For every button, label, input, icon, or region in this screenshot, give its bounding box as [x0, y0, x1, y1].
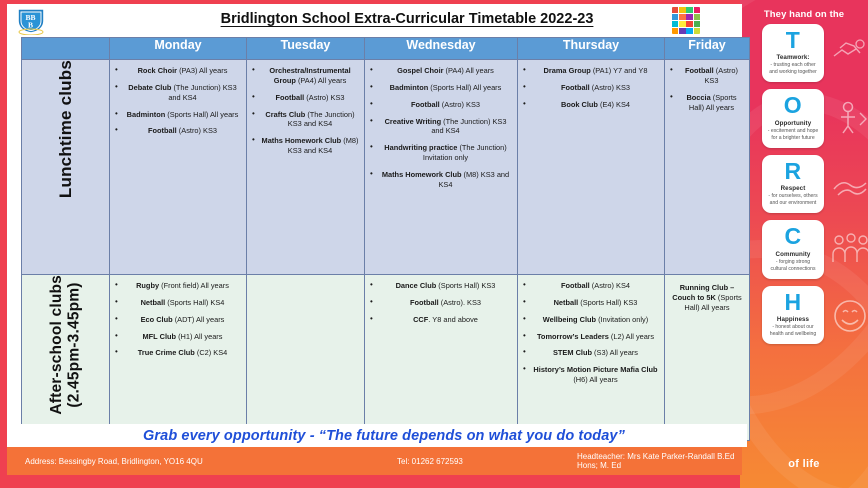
person-arrows-icon: [828, 99, 868, 139]
row-label-text: Lunchtime clubs: [56, 60, 75, 198]
torch-letter: O: [765, 94, 821, 117]
cell-friday-lunchtime: Football (Astro) KS3Boccia (Sports Hall)…: [665, 60, 750, 275]
club-item: Running Club – Couch to 5K (Sports Hall)…: [670, 283, 744, 313]
cell-thursday-lunchtime: Drama Group (PA1) Y7 and Y8Football (Ast…: [518, 60, 665, 275]
club-item: Football (Astro) KS3: [252, 93, 359, 103]
column-header-monday: Monday: [110, 38, 247, 60]
mosaic-tile: [679, 28, 685, 34]
torch-letter: T: [765, 29, 821, 52]
cell-monday-after-school: Rugby (Front field) All yearsNetball (Sp…: [110, 275, 247, 441]
mosaic-tile: [694, 28, 700, 34]
mosaic-tile: [679, 7, 685, 13]
torch-word: Community: [765, 251, 821, 258]
school-motto: Grab every opportunity - “The future dep…: [21, 424, 747, 447]
cell-tuesday-after-school: [247, 275, 365, 441]
club-item: Handwriting practice (The Junction) Invi…: [370, 143, 512, 163]
hands-icon: [828, 165, 868, 205]
club-item: Football (Astro) KS3: [670, 66, 744, 86]
club-item: Badminton (Sports Hall) All years: [370, 83, 512, 93]
page-title: Bridlington School Extra-Curricular Time…: [137, 11, 677, 27]
mosaic-tile: [672, 7, 678, 13]
torch-value-opportunity: OOpportunity- excitement and hope for a …: [762, 89, 824, 147]
club-list: Dance Club (Sports Hall) KS3Football (As…: [365, 275, 517, 336]
mosaic-tile: [672, 28, 678, 34]
club-list: Running Club – Couch to 5K (Sports Hall)…: [665, 275, 749, 324]
table-row: Lunchtime clubsRock Choir (PA3) All year…: [22, 60, 750, 275]
torch-letter: R: [765, 160, 821, 183]
cell-thursday-after-school: Football (Astro) KS4Netball (Sports Hall…: [518, 275, 665, 441]
footer-address: Address: Bessingby Road, Bridlington, YO…: [25, 457, 203, 466]
row-label-text: After-school clubs(2.45pm-3.45pm): [48, 275, 83, 415]
svg-text:B: B: [28, 21, 33, 30]
club-item: Football (Astro). KS3: [370, 298, 512, 308]
mosaic-tile: [686, 14, 692, 20]
club-item: Book Club (E4) KS4: [523, 100, 659, 110]
torch-value-teamwork: TTeamwork:- trusting each other and work…: [762, 24, 824, 82]
torch-value-happiness: HHappiness- honest about our health and …: [762, 286, 824, 344]
club-item: Orchestra/Instrumental Group (PA4) All y…: [252, 66, 359, 86]
club-item: Tomorrow’s Leaders (L2) All years: [523, 332, 659, 342]
column-header-friday: Friday: [665, 38, 750, 60]
school-crest-icon: BB B: [13, 7, 49, 35]
club-item: Badminton (Sports Hall) All years: [115, 110, 241, 120]
club-item: Football (Astro) KS3: [115, 126, 241, 136]
torch-description: - for ourselves, others and our environm…: [765, 193, 821, 207]
mosaic-tile: [694, 14, 700, 20]
footer-bar: Address: Bessingby Road, Bridlington, YO…: [7, 447, 742, 475]
club-item: Creative Writing (The Junction) KS3 and …: [370, 117, 512, 137]
timetable: Monday Tuesday Wednesday Thursday Friday…: [21, 37, 750, 441]
torch-values-panel: They hand on the TTeamwork:- trusting ea…: [740, 0, 868, 488]
torch-header-text: They hand on the: [740, 0, 868, 20]
mosaic-tile: [686, 7, 692, 13]
torch-word: Opportunity: [765, 120, 821, 127]
club-item: Football (Astro) KS3: [523, 83, 659, 93]
cell-monday-lunchtime: Rock Choir (PA3) All yearsDebate Club (T…: [110, 60, 247, 275]
torch-word: Happiness: [765, 316, 821, 323]
club-list: Orchestra/Instrumental Group (PA4) All y…: [247, 60, 364, 167]
club-item: Netball (Sports Hall) KS4: [115, 298, 241, 308]
torch-value-respect: RRespect- for ourselves, others and our …: [762, 155, 824, 213]
torch-description: - excitement and hope for a brighter fut…: [765, 128, 821, 142]
club-list: Rock Choir (PA3) All yearsDebate Club (T…: [110, 60, 246, 147]
torch-values-list: TTeamwork:- trusting each other and work…: [740, 24, 868, 344]
club-item: Rugby (Front field) All years: [115, 281, 241, 291]
torch-word: Teamwork:: [765, 54, 821, 61]
club-list: Gospel Choir (PA4) All yearsBadminton (S…: [365, 60, 517, 201]
column-header-tuesday: Tuesday: [247, 38, 365, 60]
torch-value-community: CCommunity- forging strong cultural conn…: [762, 220, 824, 278]
row-label-after-school: After-school clubs(2.45pm-3.45pm): [22, 275, 110, 441]
club-item: Rock Choir (PA3) All years: [115, 66, 241, 76]
mosaic-tile: [672, 14, 678, 20]
club-item: Boccia (Sports Hall) All years: [670, 93, 744, 113]
mosaic-tile: [694, 7, 700, 13]
torch-description: - forging strong cultural connections: [765, 259, 821, 273]
cell-wednesday-lunchtime: Gospel Choir (PA4) All yearsBadminton (S…: [365, 60, 518, 275]
timetable-header-row: Monday Tuesday Wednesday Thursday Friday: [22, 38, 750, 60]
column-header-thursday: Thursday: [518, 38, 665, 60]
club-item: True Crime Club (C2) KS4: [115, 348, 241, 358]
group-people-icon: [828, 230, 868, 270]
mosaic-logo-icon: [672, 7, 700, 34]
club-list: Football (Astro) KS3Boccia (Sports Hall)…: [665, 60, 749, 123]
poster-background: They hand on the TTeamwork:- trusting ea…: [0, 0, 868, 488]
mosaic-tile: [679, 21, 685, 27]
table-row: After-school clubs(2.45pm-3.45pm)Rugby (…: [22, 275, 750, 441]
club-item: Netball (Sports Hall) KS3: [523, 298, 659, 308]
club-item: Dance Club (Sports Hall) KS3: [370, 281, 512, 291]
club-item: MFL Club (H1) All years: [115, 332, 241, 342]
torch-word: Respect: [765, 185, 821, 192]
mosaic-tile: [672, 21, 678, 27]
club-item: STEM Club (S3) All years: [523, 348, 659, 358]
smiley-icon: [828, 296, 868, 336]
club-item: CCF. Y8 and above: [370, 315, 512, 325]
club-item: Gospel Choir (PA4) All years: [370, 66, 512, 76]
club-list: Drama Group (PA1) Y7 and Y8Football (Ast…: [518, 60, 664, 121]
handshake-icon: [828, 34, 868, 74]
club-item: Debate Club (The Junction) KS3 and KS4: [115, 83, 241, 103]
mosaic-tile: [686, 21, 692, 27]
club-item: Drama Group (PA1) Y7 and Y8: [523, 66, 659, 76]
club-item: Maths Homework Club (M8) KS3 and KS4: [370, 170, 512, 190]
torch-description: - honest about our health and wellbeing: [765, 324, 821, 338]
club-item: Crafts Club (The Junction) KS3 and KS4: [252, 110, 359, 130]
mosaic-tile: [694, 21, 700, 27]
footer-telephone: Tel: 01262 672593: [397, 457, 463, 466]
club-item: Maths Homework Club (M8) KS3 and KS4: [252, 136, 359, 156]
torch-description: - trusting each other and working togeth…: [765, 62, 821, 76]
club-item: Football (Astro) KS3: [370, 100, 512, 110]
cell-tuesday-lunchtime: Orchestra/Instrumental Group (PA4) All y…: [247, 60, 365, 275]
mosaic-tile: [686, 28, 692, 34]
club-item: Wellbeing Club (Invitation only): [523, 315, 659, 325]
timetable-body: Lunchtime clubsRock Choir (PA3) All year…: [22, 60, 750, 441]
timetable-card: BB B Bridlington School Extra-Curricular…: [7, 4, 742, 447]
cell-friday-after-school: Running Club – Couch to 5K (Sports Hall)…: [665, 275, 750, 441]
torch-letter: H: [765, 291, 821, 314]
club-item: History’s Motion Picture Mafia Club (H6)…: [523, 365, 659, 385]
club-list: Football (Astro) KS4Netball (Sports Hall…: [518, 275, 664, 396]
table-corner-cell: [22, 38, 110, 60]
column-header-wednesday: Wednesday: [365, 38, 518, 60]
club-item: Football (Astro) KS4: [523, 281, 659, 291]
torch-footer-text: of life: [740, 458, 868, 470]
club-item: Eco Club (ADT) All years: [115, 315, 241, 325]
title-bar: BB B Bridlington School Extra-Curricular…: [7, 4, 742, 37]
torch-letter: C: [765, 225, 821, 248]
cell-wednesday-after-school: Dance Club (Sports Hall) KS3Football (As…: [365, 275, 518, 441]
footer-headteacher: Headteacher: Mrs Kate Parker-Randall B.E…: [577, 452, 742, 470]
row-label-lunchtime: Lunchtime clubs: [22, 60, 110, 275]
club-list: Rugby (Front field) All yearsNetball (Sp…: [110, 275, 246, 369]
mosaic-tile: [679, 14, 685, 20]
